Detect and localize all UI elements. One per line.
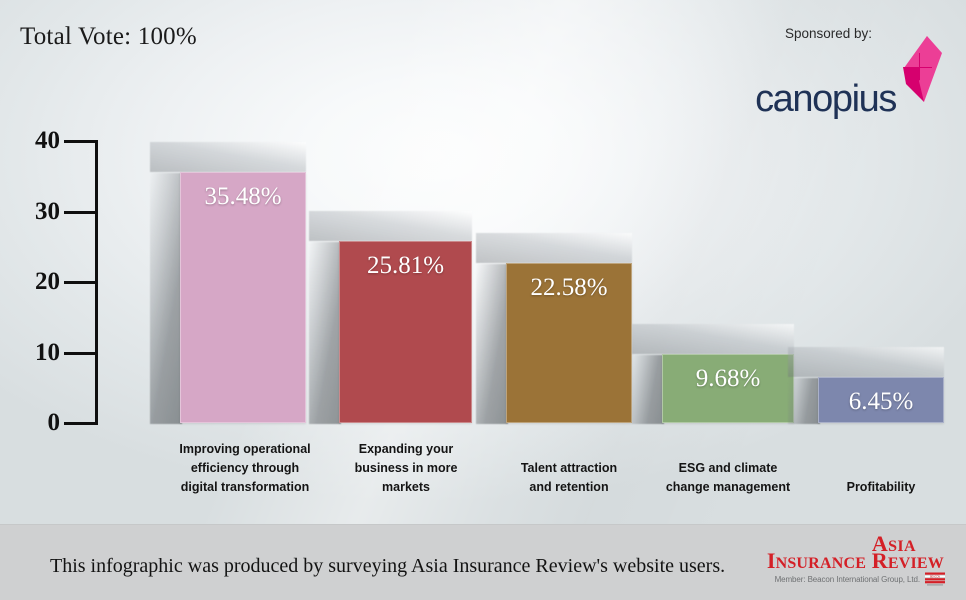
category-label-line: markets xyxy=(341,478,471,497)
bar-expanding-your-business[interactable]: 25.81% xyxy=(339,241,472,423)
logo-line-insurance-review: INSURANCE REVIEW xyxy=(767,550,944,572)
footer-caption: This infographic was produced by surveyi… xyxy=(50,555,725,578)
bar-value-label: 6.45% xyxy=(819,388,943,416)
logo-member-text: Member: Beacon International Group, Ltd. xyxy=(775,575,920,584)
category-label-improving-operational-efficiency: Improving operational efficiency through… xyxy=(166,440,324,497)
bar-shadow xyxy=(632,355,664,424)
infographic-canvas: Total Vote: 100% Sponsored by: canopius … xyxy=(0,0,966,600)
svg-text:BEACON: BEACON xyxy=(930,575,940,578)
bar-shadow-top xyxy=(150,142,306,172)
category-label-line: Talent attraction xyxy=(498,459,640,478)
category-label-line: business in more xyxy=(341,459,471,478)
category-label-line: Improving operational xyxy=(166,440,324,459)
category-label-expanding-your-business: Expanding your business in more markets xyxy=(341,440,471,497)
bar-value-label: 9.68% xyxy=(663,365,793,393)
bar-value-label: 22.58% xyxy=(507,274,631,302)
bar-shadow xyxy=(309,242,341,424)
bar-group-talent-attraction[interactable]: 22.58% xyxy=(506,263,632,423)
bar-group-esg-climate-change[interactable]: 9.68% xyxy=(662,354,794,423)
asia-insurance-review-logo: ASIA INSURANCE REVIEW Member: Beacon Int… xyxy=(740,531,950,595)
category-label-profitability: Profitability xyxy=(810,478,952,497)
bar-shadow-top xyxy=(788,347,944,377)
bar-shadow-top xyxy=(309,211,472,241)
footer-bar: This infographic was produced by surveyi… xyxy=(0,524,966,600)
chart-plot-area: 40 30 20 10 0 35.48% Improving operation… xyxy=(0,0,966,525)
category-label-talent-attraction: Talent attraction and retention xyxy=(498,459,640,497)
logo-insurance-cap: I xyxy=(767,548,776,573)
bar-shadow-top xyxy=(476,233,632,263)
category-label-line: and retention xyxy=(498,478,640,497)
category-label-line: digital transformation xyxy=(166,478,324,497)
logo-insurance-rest: NSURANCE xyxy=(776,555,867,572)
bar-talent-attraction[interactable]: 22.58% xyxy=(506,263,632,423)
bar-profitability[interactable]: 6.45% xyxy=(818,377,944,423)
beacon-logo-icon: BEACON xyxy=(924,572,946,588)
bar-series: 35.48% Improving operational efficiency … xyxy=(0,0,966,525)
bar-value-label: 35.48% xyxy=(181,183,305,211)
bar-value-label: 25.81% xyxy=(340,252,471,280)
category-label-line: Expanding your xyxy=(341,440,471,459)
bar-esg-climate-change[interactable]: 9.68% xyxy=(662,354,794,423)
bar-group-profitability[interactable]: 6.45% xyxy=(818,377,944,423)
bar-shadow xyxy=(150,173,182,424)
bar-shadow xyxy=(476,264,508,424)
bar-group-expanding-your-business[interactable]: 25.81% xyxy=(339,241,472,423)
category-label-line: Profitability xyxy=(810,478,952,497)
logo-review-rest: EVIEW xyxy=(888,555,944,572)
bar-group-improving-operational-efficiency[interactable]: 35.48% xyxy=(180,172,306,423)
category-label-esg-climate-change: ESG and climate change management xyxy=(645,459,811,497)
bar-shadow-top xyxy=(632,324,794,354)
category-label-line: ESG and climate xyxy=(645,459,811,478)
bar-shadow xyxy=(788,378,820,424)
bar-improving-operational-efficiency[interactable]: 35.48% xyxy=(180,172,306,423)
logo-review-cap: R xyxy=(872,548,888,573)
category-label-line: efficiency through xyxy=(166,459,324,478)
category-label-line: change management xyxy=(645,478,811,497)
